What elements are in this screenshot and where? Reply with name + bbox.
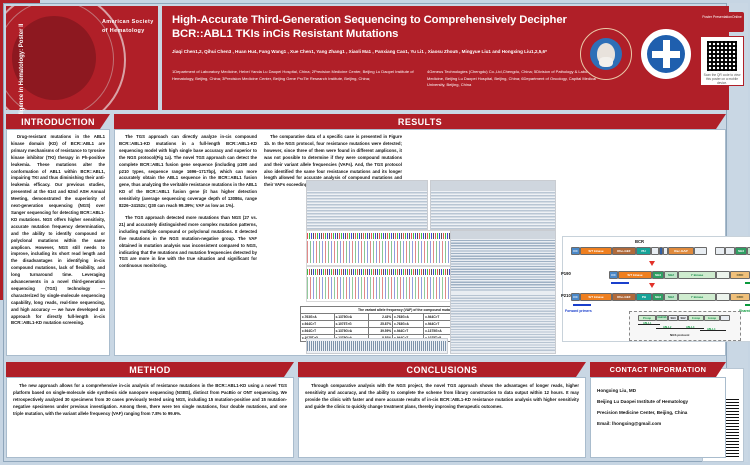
igv-screenshot-right [450,230,556,354]
abl1-spacer-1 [715,247,725,255]
institute-portrait [590,38,622,70]
p190-y-kinase: Y kinase [678,271,716,279]
breakpoint-arrow-p210 [649,283,655,288]
results-text-col1: The TGS approach can directly analyze in… [119,134,257,275]
vaf-cell: c.1075T>G [334,321,368,328]
contact-address: Precision Medicine Center, Beijing, Chin… [597,407,719,418]
vaf-cell: c.944C>T [301,321,335,328]
p210-forward-primer [573,304,591,306]
p190-sh2: SH2 [664,271,678,279]
p190-cc: CC [609,271,618,279]
domain-sh3: SH3 [735,247,747,255]
inset-p-loop: P-loop [638,315,656,321]
inset-imatinib: Imatinib [656,315,668,321]
amplicon-label-3: ABL1-3 [686,326,694,329]
qr-caption: Scan the QR code to view this poster on … [703,73,741,85]
barcode-icon [725,399,739,457]
domain-spacer-1 [651,247,659,255]
results-paragraph-2: The TGS approach detected more mutations… [119,215,257,270]
p210-st-kinase: S/T kinase [580,293,612,301]
conclusions-banner: CONCLUSIONS [298,362,586,377]
poster-title-line2: BCR::ABL1 TKIs inCis Resistant Mutations [172,27,572,41]
forward-primers-label: Forward primers [565,309,592,313]
inset-sh3: SH3 [668,315,678,321]
alignment-panel-left [306,180,428,230]
contact-name: Hongxing Liu, MD [597,385,719,396]
results-banner: RESULTS [114,114,726,129]
conclusions-text: Through comparative analysis with the NG… [299,378,585,411]
domain-cc: CC [571,247,580,255]
p190-spacer [716,271,730,279]
p190-label: P190 [561,271,571,276]
p190-forward-primer [611,282,629,284]
method-banner: METHOD [6,362,294,377]
ngs-protocol-inset: P-loop Imatinib SH3 SH2 C-loop A-loop AB… [629,311,741,341]
p190-dbd: DBD [730,271,750,279]
alignment-panel-right [430,180,556,230]
inset-sh2: SH2 [678,315,688,321]
figure-1a-gene-structure: BCR ABL1 CC S/T kinase Rho-GEF PH Rac-GA… [562,236,750,342]
method-paragraph: The new approach allows for a comprehens… [13,383,287,418]
domain-ph: PH [636,247,651,255]
amplicon-label-1: ABL1-1 [643,322,651,325]
qr-code-box: Scan the QR code to view this poster on … [700,36,744,86]
vaf-cell: c.763G>A [301,314,335,321]
vaf-cell: c.944C>T [301,328,335,335]
p190-st-kinase: S/T kinase [618,271,652,279]
qr-code-icon [707,41,737,71]
p210-ph: PH [636,293,652,301]
ngs-protocol-label: NGS protocol [670,333,689,337]
ash-logo-panel: American Society of Hematology [6,6,158,110]
vaf-value: 39.59% [368,328,392,335]
author-list: Jiaqi Chen1,2, Qihui Chen3 , Huan Hu4, F… [172,48,570,56]
presentation-tag: Poster PresentationOnline [700,12,744,32]
poster-header: High-Accurate Third-Generation Sequencin… [162,6,745,110]
domain-spacer-3 [694,247,707,255]
p210-sh3: SH3 [652,293,664,301]
poster-title: High-Accurate Third-Generation Sequencin… [172,13,572,41]
inset-c-loop: C-loop [688,315,704,321]
method-text: The new approach allows for a comprehens… [7,378,293,418]
introduction-section: INTRODUCTION Drug-resistant mutations in… [6,114,110,356]
lu-daopei-institute-logo [580,28,632,80]
domain-rac-gap: Rac-GAP [668,247,694,255]
amplicon-label-2: ABL1-2 [663,326,671,329]
domain-st-kinase: S/T kinase [580,247,612,255]
vaf-cell: c.1375G>A [334,328,368,335]
breakpoint-arrow-p190 [649,261,655,266]
p210-y-kinase: Y kinase [678,293,716,301]
introduction-text: Drug-resistant mutations in the ABL1 kin… [7,130,109,327]
ash-society-name: American Society of Hematology [102,18,154,36]
abl1-spacer-2 [725,247,735,255]
inset-spacer [720,315,730,321]
p210-spacer [716,293,730,301]
vaf-cell: c.763G>A [393,321,424,328]
contact-email[interactable]: Email: lhongxing@gmail.com [597,418,719,429]
p190-sh3: SH3 [652,271,664,279]
vaf-cell: c.763G>A [393,314,424,321]
introduction-paragraph: Drug-resistant mutations in the ABL1 kin… [11,134,105,327]
coverage-track [306,338,448,354]
conclusions-paragraph: Through comparative analysis with the NG… [305,383,579,411]
p210-cc: CC [571,293,580,301]
introduction-banner: INTRODUCTION [6,114,110,129]
contact-institute: Beijing Lu Daopei Institute of Hematolog… [597,396,719,407]
domain-rho-gef: Rho-GEF [612,247,636,255]
vaf-cell: c.1375G>A [334,314,368,321]
p190-reverse-primer [745,282,750,284]
p210-sh2: SH2 [664,293,678,301]
affiliations-right: 4Geneus Technologies (Chengdu) Co.,Ltd,C… [427,69,607,89]
lu-daopei-medical-logo [640,28,692,80]
vaf-value: 2.43% [368,314,392,321]
results-section: RESULTS The TGS approach can directly an… [114,114,726,356]
contact-details: Hongxing Liu, MD Beijing Lu Daopei Insti… [591,378,725,429]
p210-rho-gef: Rho-GEF [612,293,636,301]
vaf-cell: c.944C>T [393,328,424,335]
vaf-value: 25.87% [368,321,392,328]
p210-dbd: DBD [730,293,750,301]
bcr-gene-label: BCR [635,239,644,244]
p210-reverse-primer [745,304,750,306]
conclusions-section: CONCLUSIONS Through comparative analysis… [298,362,586,458]
results-paragraph-1: The TGS approach can directly analyze in… [119,134,257,210]
p210-label: P210 [561,293,571,298]
contact-section: CONTACT INFORMATION Hongxing Liu, MD Bei… [590,362,726,458]
affiliations-left: 1Department of Laboratory Medicine, Hebe… [172,69,422,82]
amplicon-label-4: ABL1-4 [707,328,715,331]
poster-title-line1: High-Accurate Third-Generation Sequencin… [172,13,572,27]
contact-banner: CONTACT INFORMATION [590,362,726,377]
inset-a-loop: A-loop [704,315,720,321]
method-section: METHOD The new approach allows for a com… [6,362,294,458]
poster-root: American Society of Hematology High-Accu… [0,0,750,465]
